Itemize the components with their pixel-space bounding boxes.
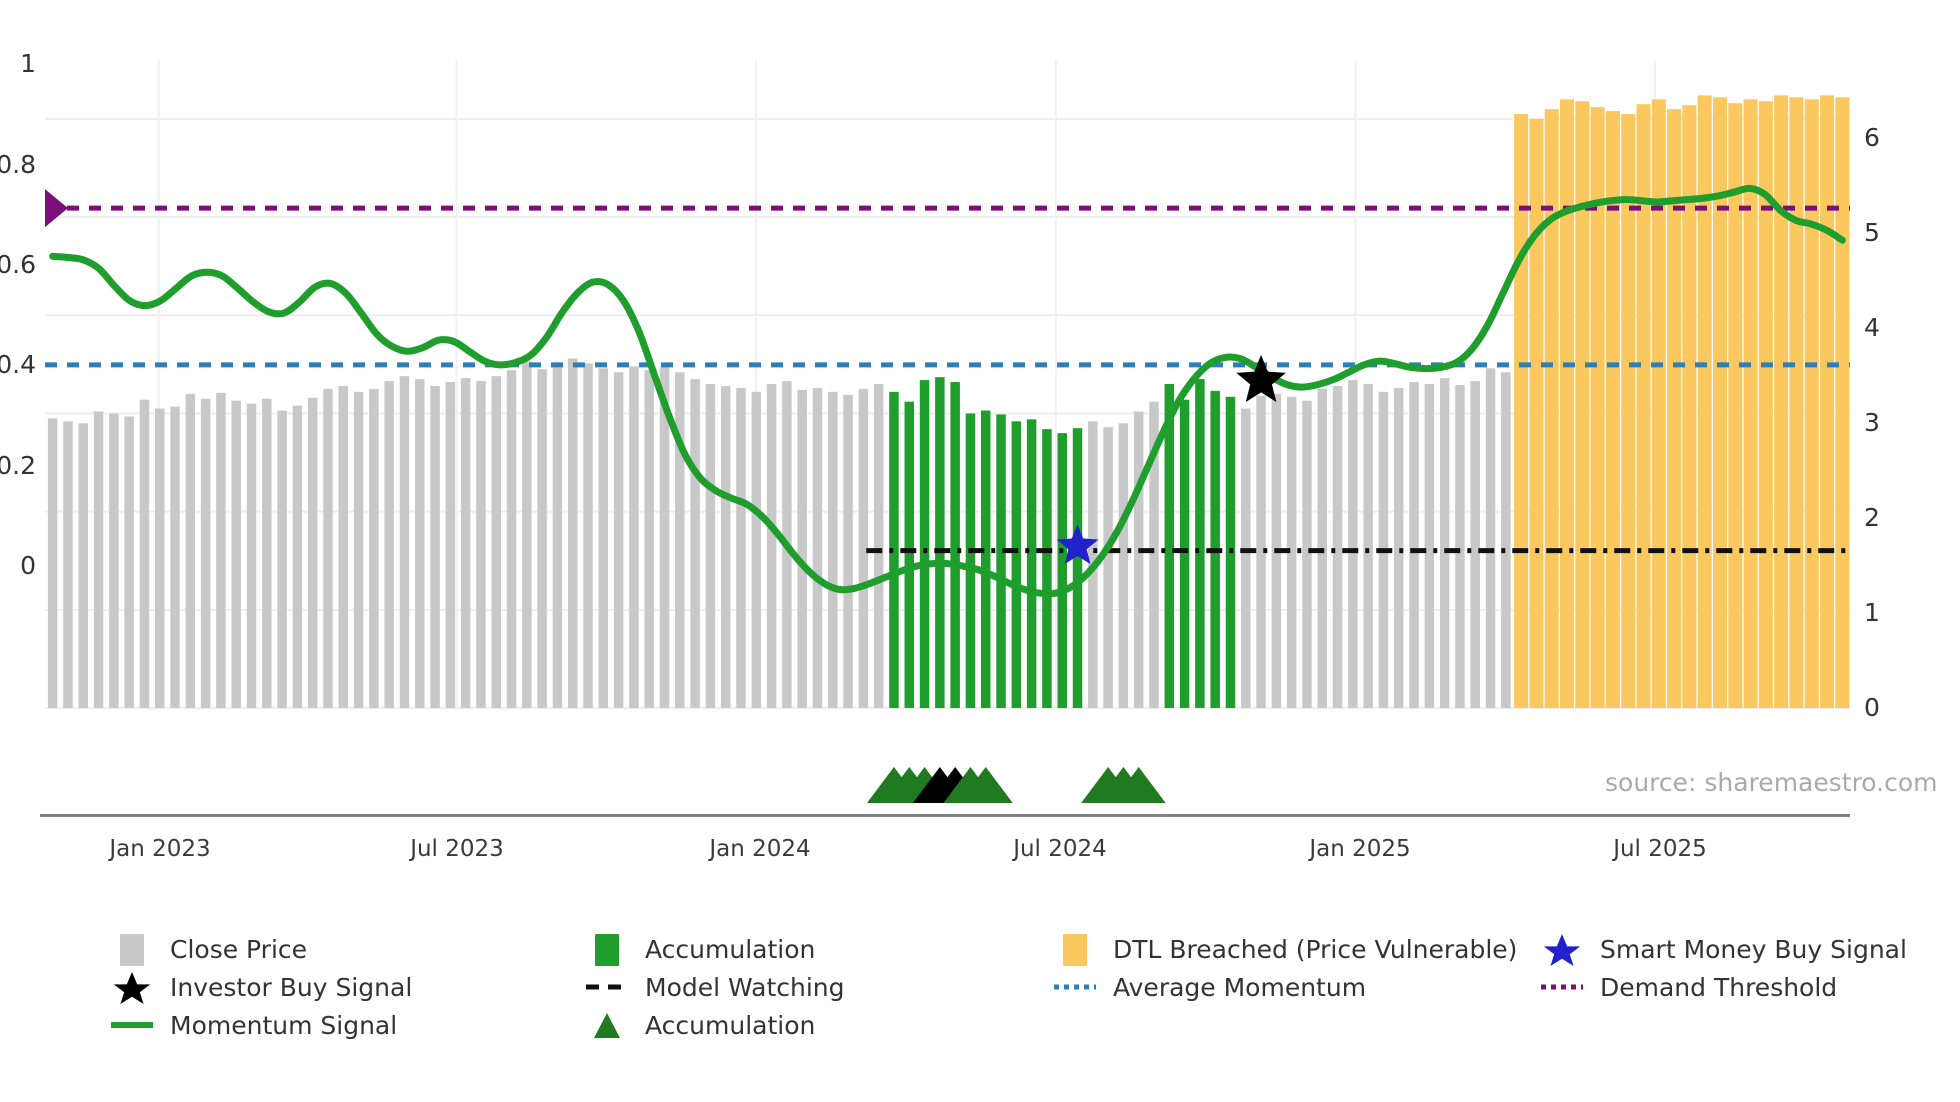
right-axis-tick: 4 (1864, 313, 1880, 342)
legend-label: Accumulation (645, 1011, 815, 1040)
solid-line-icon (110, 1008, 154, 1042)
chart-legend: Close Price Accumulation DTL Breached (P… (0, 920, 1960, 1080)
legend-item-dtl-breached[interactable]: DTL Breached (Price Vulnerable) (1053, 932, 1517, 966)
legend-label: Accumulation (645, 935, 815, 964)
legend-label: Smart Money Buy Signal (1600, 935, 1907, 964)
legend-item-accumulation-bar[interactable]: Accumulation (585, 932, 815, 966)
star-icon (110, 970, 154, 1004)
legend-item-model-watching[interactable]: Model Watching (585, 970, 845, 1004)
legend-item-average-momentum[interactable]: Average Momentum (1053, 970, 1366, 1004)
dotted-line-icon (1540, 970, 1584, 1004)
chart-page: 0 0.2 0.4 0.6 0.8 1 0 1 2 3 4 5 6 Jan 20… (0, 0, 1960, 1102)
right-axis-tick: 1 (1864, 598, 1880, 627)
x-axis-tick: Jul 2025 (1560, 836, 1760, 862)
source-attribution: source: sharemaestro.com (1605, 768, 1938, 797)
legend-item-accumulation-triangle[interactable]: Accumulation (585, 1008, 815, 1042)
left-axis-tick: 1 (0, 49, 36, 78)
legend-label: DTL Breached (Price Vulnerable) (1113, 935, 1517, 964)
right-axis-tick: 2 (1864, 503, 1880, 532)
x-axis-tick: Jul 2023 (357, 836, 557, 862)
x-axis-tick: Jan 2023 (60, 836, 260, 862)
legend-label: Momentum Signal (170, 1011, 397, 1040)
right-axis-tick: 0 (1864, 693, 1880, 722)
right-axis-tick: 6 (1864, 123, 1880, 152)
legend-item-momentum-signal[interactable]: Momentum Signal (110, 1008, 397, 1042)
x-axis-tick: Jan 2024 (660, 836, 860, 862)
chart-plot-area (45, 60, 1850, 708)
left-axis-tick: 0.8 (0, 150, 36, 179)
legend-label: Model Watching (645, 973, 845, 1002)
square-swatch-icon (585, 932, 629, 966)
triangle-up-icon (585, 1008, 629, 1042)
dashed-line-icon (585, 970, 629, 1004)
left-axis-tick: 0.6 (0, 250, 36, 279)
legend-label: Demand Threshold (1600, 973, 1837, 1002)
legend-item-investor-buy[interactable]: Investor Buy Signal (110, 970, 412, 1004)
legend-item-smart-money-buy[interactable]: Smart Money Buy Signal (1540, 932, 1907, 966)
star-icon (1540, 932, 1584, 966)
left-axis-tick: 0.4 (0, 350, 36, 379)
legend-label: Average Momentum (1113, 973, 1366, 1002)
x-axis-tick: Jul 2024 (960, 836, 1160, 862)
legend-label: Investor Buy Signal (170, 973, 412, 1002)
dotted-line-icon (1053, 970, 1097, 1004)
left-axis-tick: 0 (0, 551, 36, 580)
legend-item-demand-threshold[interactable]: Demand Threshold (1540, 970, 1837, 1004)
square-swatch-icon (1053, 932, 1097, 966)
right-axis-tick: 5 (1864, 218, 1880, 247)
right-axis-tick: 3 (1864, 408, 1880, 437)
x-axis-line (40, 814, 1850, 817)
square-swatch-icon (110, 932, 154, 966)
legend-item-close-price[interactable]: Close Price (110, 932, 307, 966)
chart-canvas (45, 60, 1850, 808)
left-axis-tick: 0.2 (0, 451, 36, 480)
legend-label: Close Price (170, 935, 307, 964)
x-axis-tick: Jan 2025 (1260, 836, 1460, 862)
